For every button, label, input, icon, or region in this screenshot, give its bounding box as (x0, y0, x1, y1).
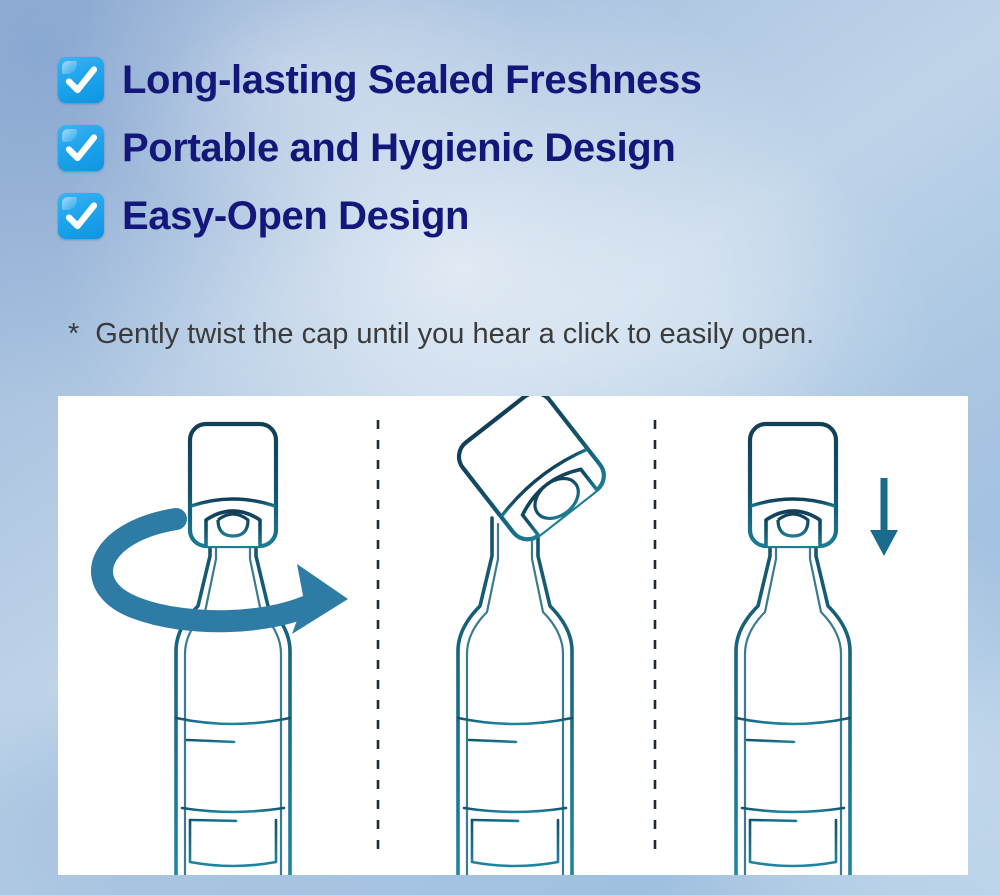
feature-list: Long-lasting Sealed Freshness Portable a… (58, 46, 938, 250)
checkbox-checked-icon (58, 193, 104, 239)
step-lift-cap (452, 396, 611, 875)
step-twist-cap (102, 424, 348, 875)
instruction-illustration-panel (58, 396, 968, 875)
feature-item-3: Easy-Open Design (58, 182, 938, 250)
bottle-cap (750, 424, 836, 546)
feature-item-1: Long-lasting Sealed Freshness (58, 46, 938, 114)
feature-item-label: Long-lasting Sealed Freshness (122, 60, 702, 100)
bottle-cap (190, 424, 276, 546)
usage-note: * Gently twist the cap until you hear a … (68, 318, 814, 351)
checkbox-checked-icon (58, 125, 104, 171)
bottle-cap-removed (452, 396, 611, 547)
note-asterisk: * (68, 320, 79, 349)
feature-item-2: Portable and Hygienic Design (58, 114, 938, 182)
note-text: Gently twist the cap until you hear a cl… (95, 318, 814, 351)
down-arrow-icon (870, 478, 898, 556)
bottle-outline (736, 516, 850, 875)
bottle-outline (458, 518, 572, 875)
bottle-outline (176, 516, 290, 875)
feature-item-label: Portable and Hygienic Design (122, 128, 675, 168)
step-press-cap (736, 424, 898, 875)
checkbox-checked-icon (58, 57, 104, 103)
feature-item-label: Easy-Open Design (122, 196, 469, 236)
product-feature-poster: Long-lasting Sealed Freshness Portable a… (0, 0, 1000, 895)
